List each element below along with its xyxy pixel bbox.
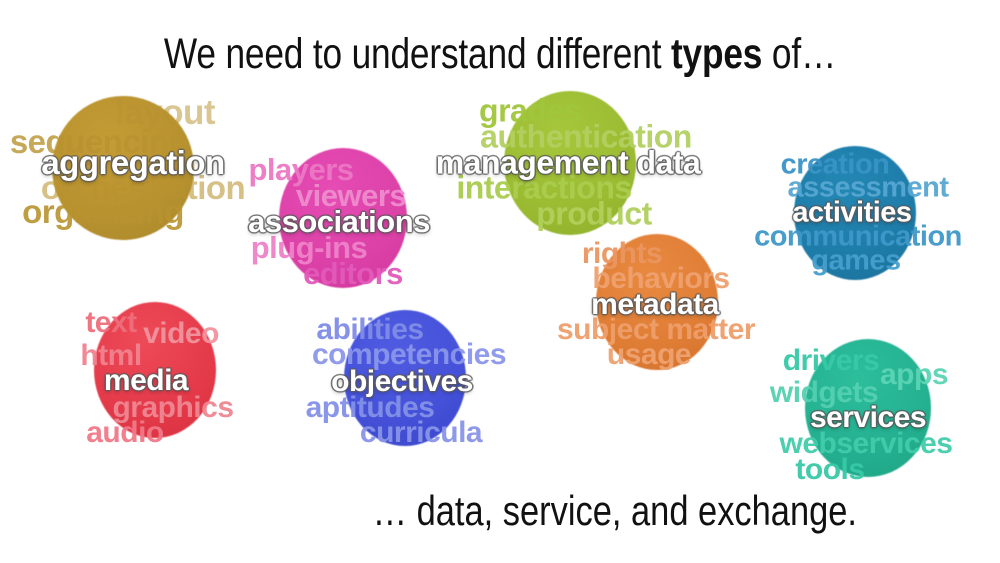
headline-text-lead: We need to understand different <box>164 30 671 78</box>
management-data-word-product: product <box>536 196 652 233</box>
aggregation-word-organizing: organizing <box>22 193 184 231</box>
media-word-text: text <box>85 306 136 340</box>
objectives-word-objectives: objectives <box>331 365 473 399</box>
page-title: We need to understand different types of… <box>90 30 910 79</box>
services-word-drivers: drivers <box>783 344 880 378</box>
page-caption: … data, service, and exchange. <box>90 487 910 535</box>
services-word-services: services <box>810 401 926 435</box>
headline-text-bold: types <box>671 30 762 78</box>
services-word-tools: tools <box>795 453 864 487</box>
services-word-apps: apps <box>880 358 948 392</box>
associations-word-editors: editors <box>303 256 403 292</box>
metadata-word-usage: usage <box>607 338 691 372</box>
aggregation-word-aggregation: aggregation <box>41 144 224 182</box>
headline-text-tail: of… <box>762 30 836 78</box>
media-word-video: video <box>143 317 219 351</box>
metadata-word-metadata: metadata <box>591 288 719 322</box>
media-word-audio: audio <box>86 416 164 450</box>
activities-word-games: games <box>811 245 900 278</box>
associations-word-associations: associations <box>248 204 430 240</box>
activities-word-activities: activities <box>792 197 911 230</box>
media-word-media: media <box>104 364 188 398</box>
management-data-word-management-data: management data <box>436 145 701 182</box>
slide-canvas: We need to understand different types of… <box>0 0 1000 563</box>
objectives-word-curricula: curricula <box>360 416 482 450</box>
